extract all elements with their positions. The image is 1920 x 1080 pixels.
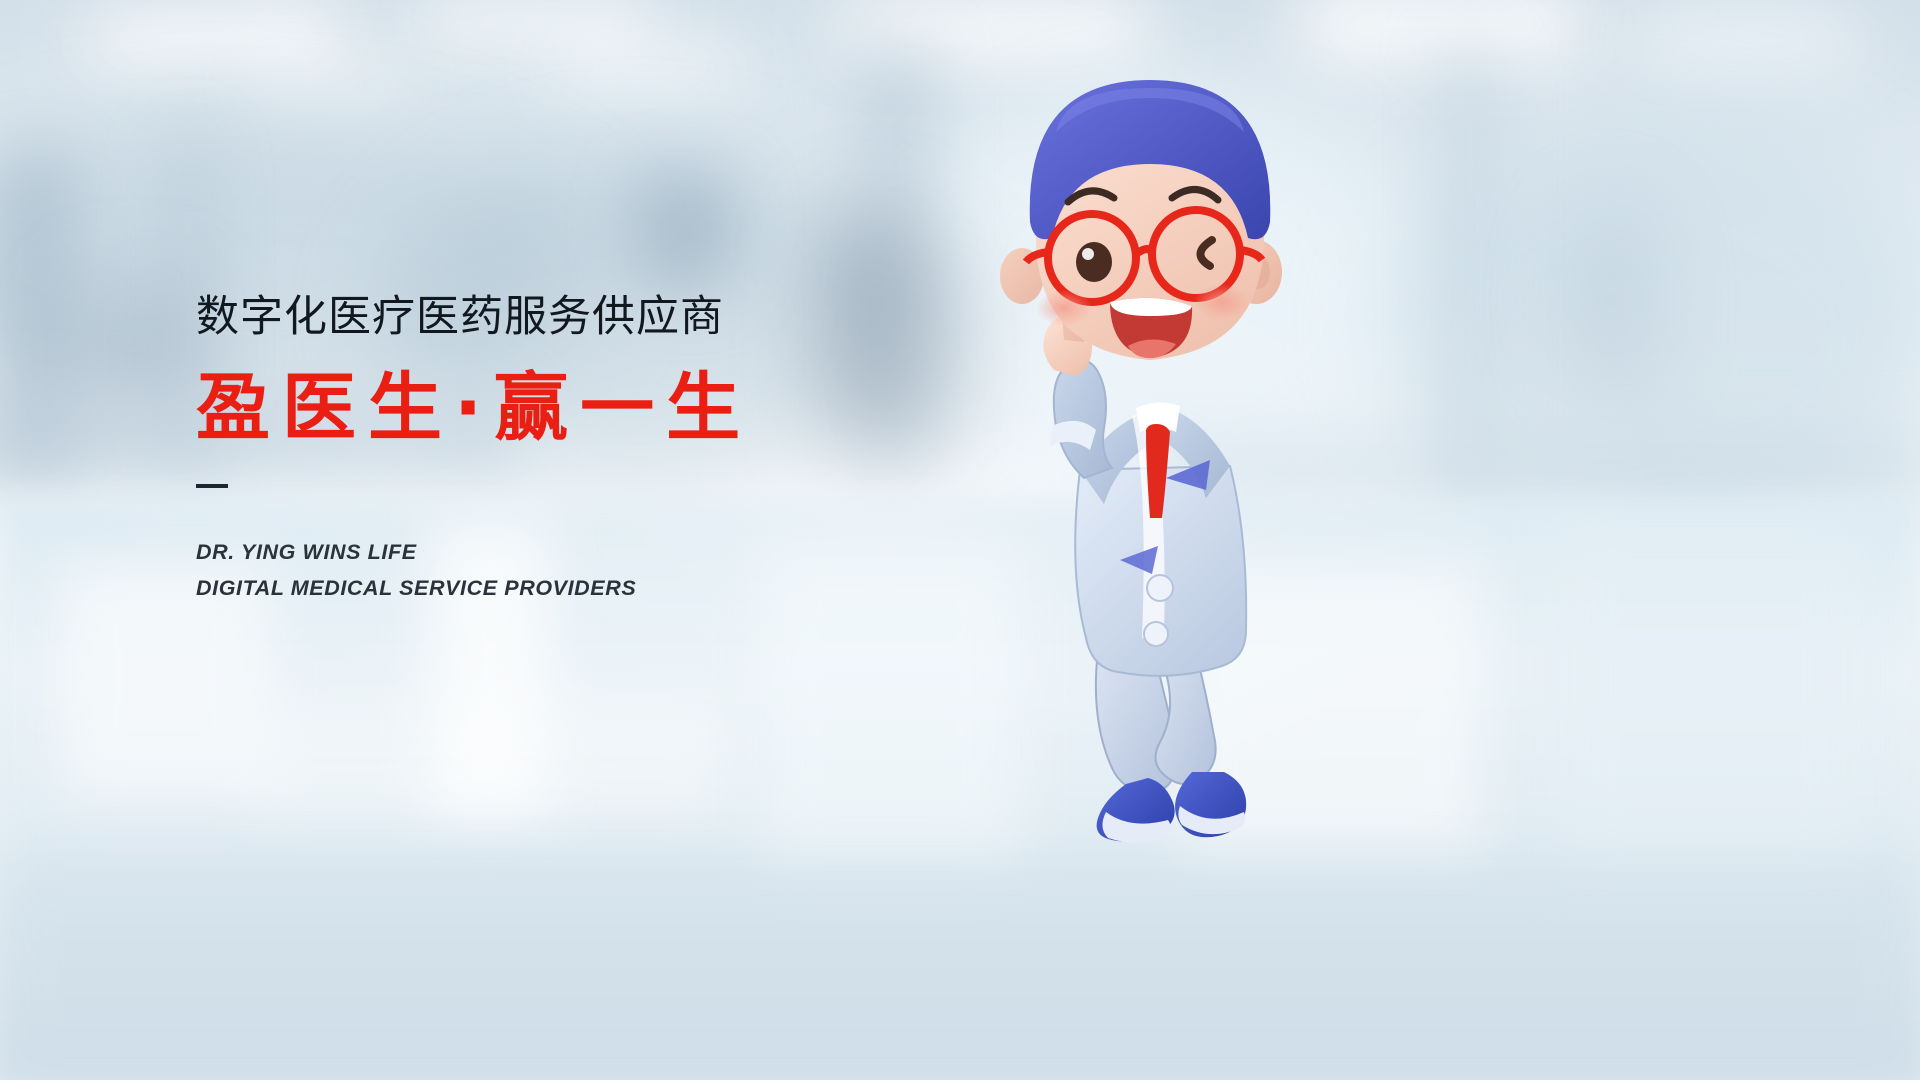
hero-subtitle-line-1: DR. YING WINS LIFE	[196, 534, 1076, 570]
doctor-mascot	[960, 40, 1380, 850]
shoes	[1097, 772, 1247, 843]
hero-banner: 数字化医疗医药服务供应商 盈医生·赢一生 DR. YING WINS LIFE …	[0, 0, 1920, 1080]
hero-headline: 盈医生·赢一生	[196, 367, 1076, 450]
hero-copy: 数字化医疗医药服务供应商 盈医生·赢一生 DR. YING WINS LIFE …	[196, 292, 1076, 606]
divider-rule	[196, 484, 228, 488]
hero-subtitle-line-2: DIGITAL MEDICAL SERVICE PROVIDERS	[196, 570, 1076, 606]
eye-open	[1076, 242, 1112, 282]
hero-kicker: 数字化医疗医药服务供应商	[196, 292, 1076, 343]
hero-subtitle: DR. YING WINS LIFE DIGITAL MEDICAL SERVI…	[196, 534, 1076, 606]
